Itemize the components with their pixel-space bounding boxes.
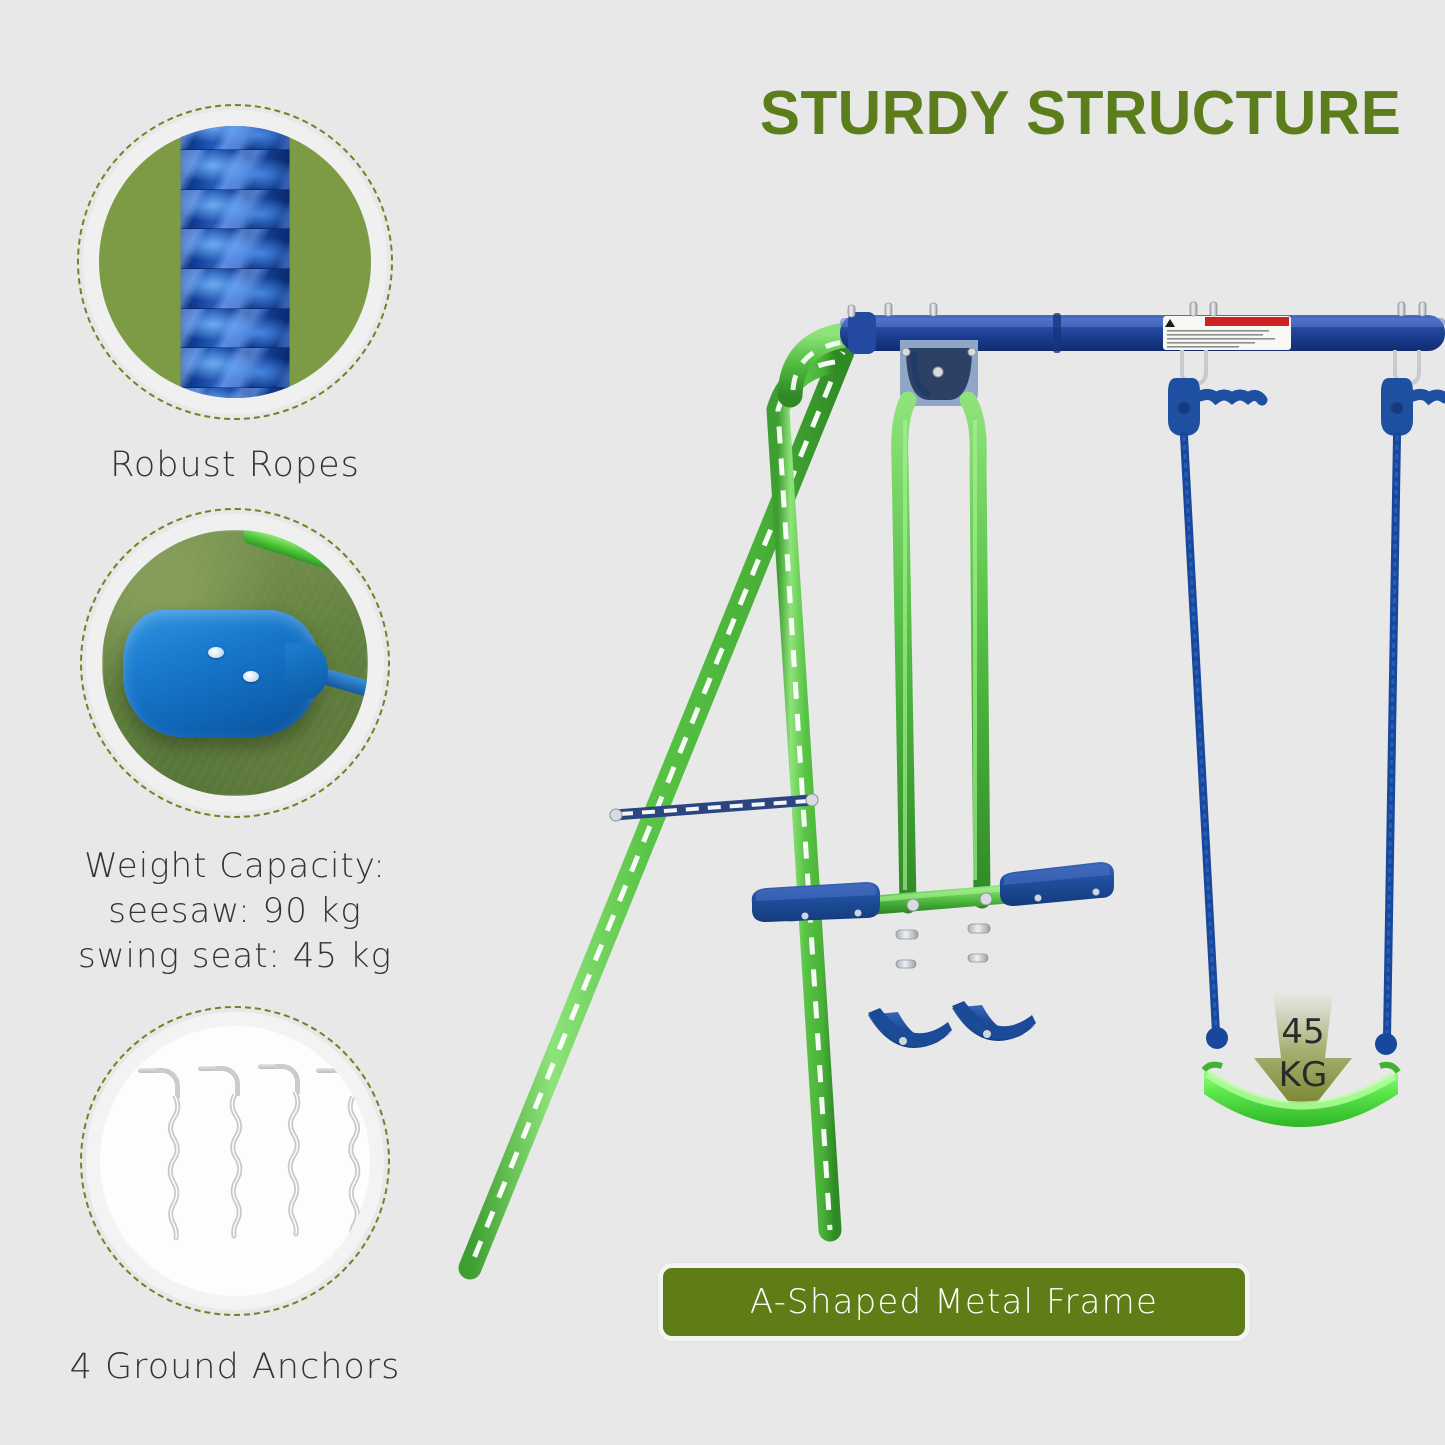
glider-seat-right <box>1000 862 1114 906</box>
load-badge-unit: KG <box>1279 1055 1328 1095</box>
glider-footrest-left <box>868 1008 952 1048</box>
a-shaped-metal-frame-banner: A-Shaped Metal Frame <box>658 1263 1250 1341</box>
infographic-canvas: STURDY STRUCTURE Robust Ropes <box>0 0 1445 1445</box>
glider-arms <box>900 400 982 905</box>
swing-ropes <box>1184 436 1397 1055</box>
top-bar-bolts <box>848 302 1426 317</box>
banner-label: A-Shaped Metal Frame <box>750 1282 1158 1322</box>
glider-arm-brackets <box>896 924 990 968</box>
swing-set-illustration: 45 KG <box>0 0 1445 1445</box>
load-badge-value: 45 <box>1281 1012 1324 1052</box>
warning-sticker <box>1163 316 1291 350</box>
cross-brace <box>610 794 818 821</box>
rope-hanger-left <box>1168 350 1262 436</box>
rope-hanger-right <box>1381 350 1445 436</box>
glider-footrest-right <box>952 1001 1036 1041</box>
glider-seat-left <box>752 882 880 922</box>
